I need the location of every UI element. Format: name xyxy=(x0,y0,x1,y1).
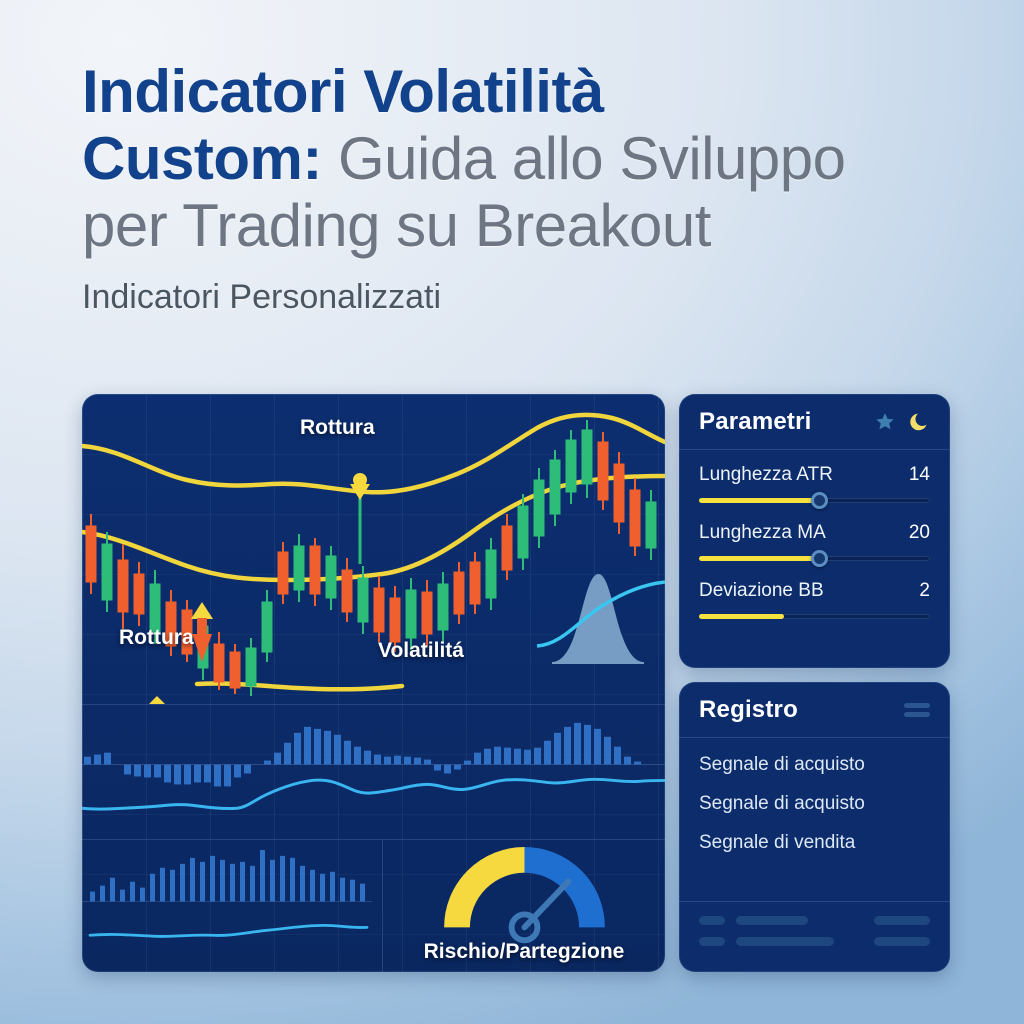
skeleton-bar xyxy=(699,916,725,925)
param-value-bb: 2 xyxy=(919,580,930,602)
slider-knob-atr[interactable] xyxy=(811,492,828,509)
parameters-panel: Parametri Lunghezza ATR 1 xyxy=(679,394,950,668)
dashboard: Rottura Rottura Volatilitá xyxy=(82,394,950,972)
star-icon[interactable] xyxy=(874,411,896,432)
param-value-atr: 14 xyxy=(909,464,930,486)
title-strong-line1: Indicatori Volatilità xyxy=(82,58,604,125)
log-header: Registro xyxy=(679,682,950,738)
macd-histogram xyxy=(82,705,665,839)
log-header-icons xyxy=(904,703,930,717)
log-skeleton-rows xyxy=(679,901,950,958)
title-strong-line2: Custom: xyxy=(82,125,322,192)
parameters-header: Parametri xyxy=(679,394,950,450)
log-panel: Registro Segnale di acquisto Segnale di … xyxy=(679,682,950,972)
title-rest-line2: per Trading su Breakout xyxy=(82,192,711,259)
skeleton-bar xyxy=(736,937,834,946)
risk-gauge-area[interactable]: Rischio/Partegzione xyxy=(382,840,665,972)
breakout-down-marker-icon xyxy=(350,473,370,564)
slider-ma[interactable] xyxy=(699,551,930,565)
volume-bars xyxy=(82,840,382,972)
bottom-indicators-area: Rischio/Partegzione xyxy=(82,839,665,972)
skeleton-bar xyxy=(699,937,725,946)
side-column: Parametri Lunghezza ATR 1 xyxy=(679,394,950,972)
label-rottura-top: Rottura xyxy=(300,416,375,440)
param-label-bb: Deviazione BB xyxy=(699,580,824,602)
volume-chart-area[interactable] xyxy=(82,840,382,972)
param-value-ma: 20 xyxy=(909,522,930,544)
log-body: Segnale di acquisto Segnale di acquisto … xyxy=(679,738,950,854)
chart-panel: Rottura Rottura Volatilitá xyxy=(82,394,665,972)
skeleton-bar xyxy=(874,916,930,925)
slider-knob-ma[interactable] xyxy=(811,550,828,567)
slider-fill-bb xyxy=(699,614,784,619)
param-row-atr: Lunghezza ATR 14 xyxy=(699,464,930,507)
slider-fill-ma xyxy=(699,556,819,561)
page-title: Indicatori Volatilità Custom: Guida allo… xyxy=(82,58,962,260)
header: Indicatori Volatilità Custom: Guida allo… xyxy=(82,58,962,317)
parameters-title: Parametri xyxy=(699,408,812,436)
slider-fill-atr xyxy=(699,498,819,503)
breakout-up-marker-icon xyxy=(191,602,213,662)
candlestick-chart xyxy=(82,394,665,704)
skeleton-bar xyxy=(736,916,808,925)
macd-chart-area[interactable] xyxy=(82,704,665,839)
parameters-body: Lunghezza ATR 14 Lunghezza MA 20 xyxy=(679,450,950,623)
log-item[interactable]: Segnale di acquisto xyxy=(699,754,930,776)
label-volatilita: Volatilitá xyxy=(378,639,464,663)
price-chart-area[interactable]: Rottura Rottura Volatilitá xyxy=(82,394,665,704)
label-rischio-protezione: Rischio/Partegzione xyxy=(383,940,665,964)
skeleton-bar xyxy=(874,937,930,946)
slider-atr[interactable] xyxy=(699,493,930,507)
param-row-ma: Lunghezza MA 20 xyxy=(699,522,930,565)
param-row-bb: Deviazione BB 2 xyxy=(699,580,930,623)
label-rottura-bottom: Rottura xyxy=(119,626,194,650)
skeleton-row xyxy=(699,916,930,925)
skeleton-row xyxy=(699,937,930,946)
log-item[interactable]: Segnale di vendita xyxy=(699,832,930,854)
slider-bb[interactable] xyxy=(699,609,930,623)
breakout-low-diamond-icon xyxy=(148,696,166,704)
moon-icon[interactable] xyxy=(909,411,930,432)
menu-lines-icon[interactable] xyxy=(904,703,930,717)
title-rest-line1: Guida allo Sviluppo xyxy=(322,125,846,192)
log-title: Registro xyxy=(699,696,798,724)
param-label-ma: Lunghezza MA xyxy=(699,522,826,544)
poster-canvas: Indicatori Volatilità Custom: Guida allo… xyxy=(0,0,1024,1024)
volatility-distribution-icon xyxy=(537,574,665,664)
page-subtitle: Indicatori Personalizzati xyxy=(82,278,962,317)
log-item[interactable]: Segnale di acquisto xyxy=(699,793,930,815)
parameters-header-icons xyxy=(874,411,930,432)
param-label-atr: Lunghezza ATR xyxy=(699,464,833,486)
